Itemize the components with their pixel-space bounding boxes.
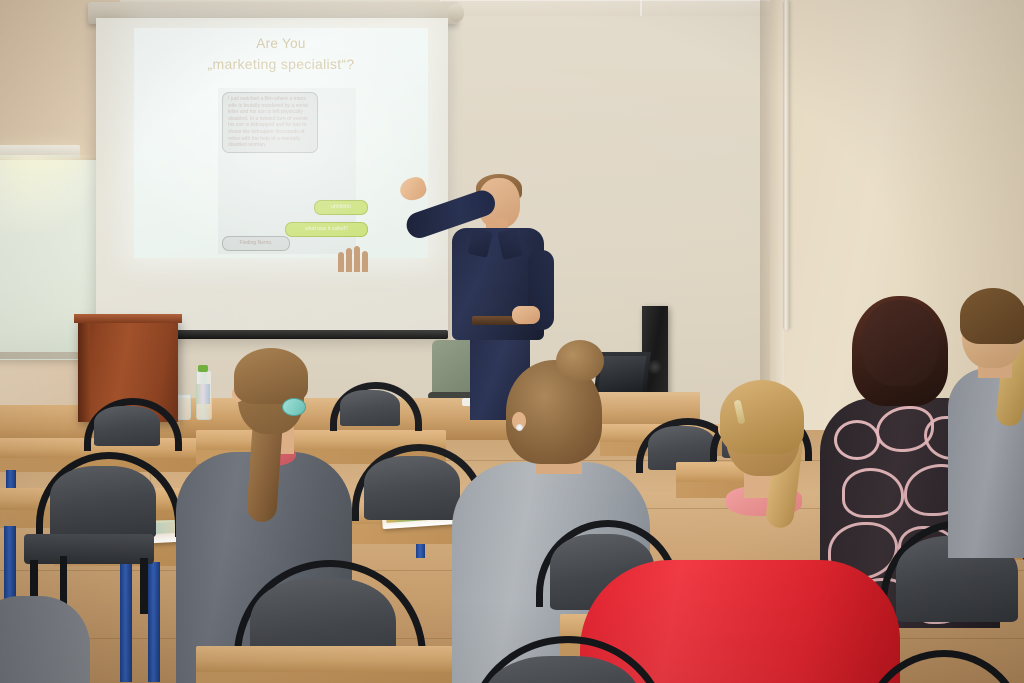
hair-scrunchie [282,398,306,416]
attendee-hair [960,288,1024,344]
attendee-hair [234,348,308,404]
desk-foreground-left-apron [196,672,496,683]
attendee-hair-bun [556,340,604,382]
water-bottle-label [196,384,210,404]
raised-hand-silhouette [336,246,376,272]
attendee-hair [720,380,804,454]
desk-leg [120,562,132,682]
laptop-screen [598,356,647,394]
lectern-side [78,318,90,422]
desk-leg [148,562,160,682]
attendee-head [862,300,938,386]
water-bottle-cap [198,365,208,372]
lectern-top [74,314,182,323]
earring [516,424,523,431]
speaker-cone-icon [648,360,662,374]
screen-roller-cap [448,4,464,22]
projector-light-wash [120,20,442,270]
cable-conduit [783,0,790,330]
lamp-glow [0,155,100,235]
presenter-hand-on-hip [512,306,540,324]
classroom-photo: Are You „marketing specialist“? I just w… [0,0,1024,683]
